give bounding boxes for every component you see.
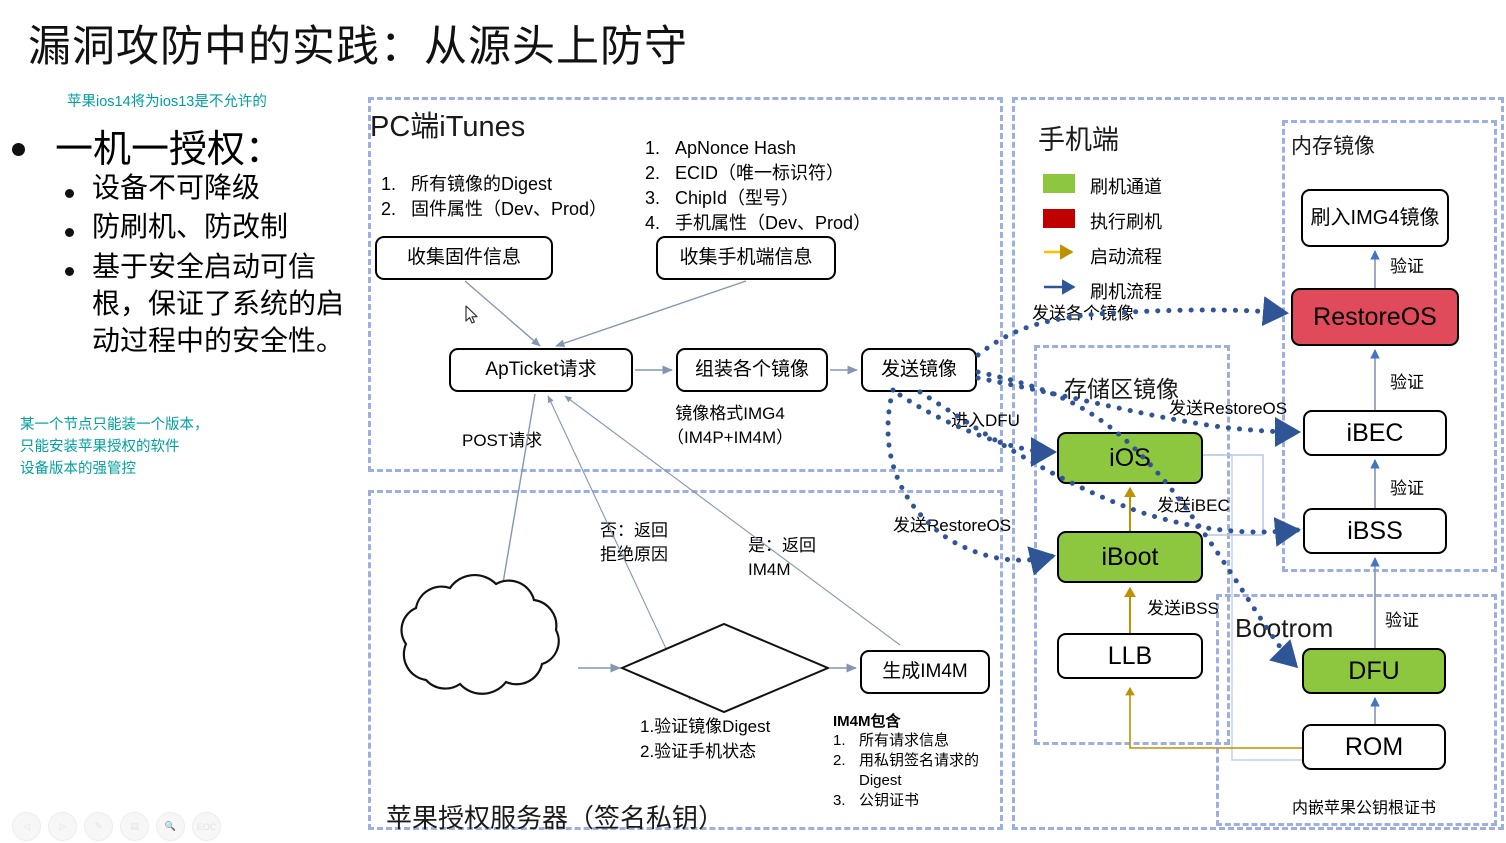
play-icon[interactable]: ▷	[48, 812, 77, 841]
sub-bullet-marker-1	[65, 189, 74, 198]
verify-label-restoreos: 验证	[1390, 372, 1424, 393]
list-item: 2.固件属性（Dev、Prod）	[381, 197, 607, 222]
panel-title-pc: PC端iTunes	[370, 103, 525, 145]
panel-title-storage: 存储区镜像	[1064, 370, 1179, 404]
list-index: 1.	[833, 731, 859, 751]
sub-bullet-marker-2	[65, 228, 74, 237]
legend-label-flash-channel: 刷机通道	[1090, 173, 1162, 199]
list-item: 1.所有请求信息	[833, 731, 981, 751]
list-text: ChipId（型号）	[675, 186, 799, 211]
box-dfu[interactable]: DFU	[1302, 648, 1446, 694]
list-index: 3.	[645, 186, 675, 211]
box-llb[interactable]: LLB	[1057, 633, 1203, 679]
panel-title-bootrom: Bootrom	[1235, 613, 1333, 644]
server-verify-list: 1.验证镜像Digest 2.验证手机状态	[640, 714, 770, 764]
panel-memory	[1282, 120, 1497, 572]
box-iboot[interactable]: iBoot	[1057, 531, 1203, 583]
sub-bullet-2: 防刷机、防改制	[92, 209, 288, 245]
label-branch-no: 否：返回 拒绝原因	[600, 519, 668, 567]
box-flash-img4[interactable]: 刷入IMG4镜像	[1301, 189, 1449, 247]
box-apticket-request[interactable]: ApTicket请求	[449, 348, 633, 392]
box-restoreos[interactable]: RestoreOS	[1291, 288, 1459, 346]
panel-title-memory: 内存镜像	[1291, 130, 1375, 160]
label-send-all-images: 发送各个镜像	[1032, 303, 1134, 324]
box-rom[interactable]: ROM	[1302, 724, 1446, 770]
list-index: 2.	[833, 751, 859, 791]
sub-bullet-3: 基于安全启动可信根，保证了系统的启动过程中的安全性。	[92, 248, 354, 359]
list-item: 4.手机属性（Dev、Prod）	[645, 211, 871, 236]
list-item: 3.ChipId（型号）	[645, 186, 871, 211]
box-collect-firmware[interactable]: 收集固件信息	[375, 236, 553, 280]
pc-list-left: 1.所有镜像的Digest 2.固件属性（Dev、Prod）	[381, 172, 607, 222]
list-index: 2.	[381, 197, 411, 222]
im4m-contains-title: IM4M包含	[833, 711, 901, 732]
list-text: 所有请求信息	[859, 731, 949, 751]
box-generate-im4m[interactable]: 生成IM4M	[860, 650, 990, 694]
box-ibec[interactable]: iBEC	[1303, 410, 1447, 456]
list-item: 3.公钥证书	[833, 791, 981, 811]
list-index: 4.	[645, 211, 675, 236]
box-collect-phone[interactable]: 收集手机端信息	[656, 236, 836, 280]
sub-bullet-1: 设备不可降级	[92, 170, 260, 206]
box-ibss[interactable]: iBSS	[1303, 508, 1447, 554]
page-title: 漏洞攻防中的实践：从源头上防守	[28, 12, 688, 74]
search-icon[interactable]: 🔍	[156, 812, 185, 841]
im4m-list: 1.所有请求信息 2.用私钥签名请求的Digest 3.公钥证书	[833, 731, 981, 811]
main-bullet-marker	[12, 143, 25, 156]
list-item: 2.ECID（唯一标识符）	[645, 161, 871, 186]
list-text: 固件属性（Dev、Prod）	[411, 197, 607, 222]
label-send-restoreos-right: 发送RestoreOS	[1169, 398, 1287, 419]
legend-swatch-flash-channel	[1043, 174, 1075, 193]
label-send-ibec: 发送iBEC	[1157, 495, 1230, 516]
box-assemble-images[interactable]: 组装各个镜像	[676, 348, 828, 392]
main-bullet-text: 一机一授权：	[55, 118, 283, 173]
label-send-ibss: 发送iBSS	[1147, 598, 1219, 619]
list-index: 1.	[645, 136, 675, 161]
bootrom-note: 内嵌苹果公钥根证书	[1292, 798, 1436, 819]
teal-note-bottom: 某一个节点只能装一个版本， 只能安装苹果授权的软件 设备版本的强管控	[20, 414, 209, 480]
box-send-image[interactable]: 发送镜像	[861, 348, 977, 392]
panel-title-phone: 手机端	[1038, 118, 1119, 157]
mouse-cursor	[465, 305, 479, 325]
bottom-toolbar: ◁ ▷ ✎ ▤ 🔍 EOC	[12, 812, 221, 841]
list-index: 3.	[833, 791, 859, 811]
legend-label-execute-flash: 执行刷机	[1090, 208, 1162, 234]
legend-label-flash-flow: 刷机流程	[1090, 278, 1162, 304]
list-index: 2.	[645, 161, 675, 186]
list-item: 1.ApNonce Hash	[645, 136, 871, 161]
sub-bullet-marker-3	[65, 267, 74, 276]
layout-icon[interactable]: ▤	[120, 812, 149, 841]
list-text: 手机属性（Dev、Prod）	[675, 211, 871, 236]
pen-icon[interactable]: ✎	[84, 812, 113, 841]
list-text: 用私钥签名请求的Digest	[859, 751, 981, 791]
legend-swatch-execute-flash	[1043, 209, 1075, 228]
label-send-restoreos-left: 发送RestoreOS	[893, 515, 1011, 536]
list-item: 2.用私钥签名请求的Digest	[833, 751, 981, 791]
verify-label-ibss: 验证	[1385, 610, 1419, 631]
box-ios[interactable]: iOS	[1057, 432, 1203, 484]
list-item: 1.所有镜像的Digest	[381, 172, 607, 197]
diamond-label: 是否授权	[676, 656, 752, 677]
verify-label-ibec: 验证	[1390, 478, 1424, 499]
label-img4-format: 镜像格式IMG4 （IM4P+IM4M）	[667, 402, 793, 450]
list-text: ApNonce Hash	[675, 136, 796, 161]
list-text: 公钥证书	[859, 791, 919, 811]
eoc-icon[interactable]: EOC	[192, 812, 221, 841]
list-text: 所有镜像的Digest	[411, 172, 552, 197]
prev-icon[interactable]: ◁	[12, 812, 41, 841]
legend-label-boot-flow: 启动流程	[1090, 243, 1162, 269]
teal-note-top: 苹果ios14将为ios13是不允许的	[67, 90, 267, 111]
list-text: ECID（唯一标识符）	[675, 161, 844, 186]
label-enter-dfu: 进入DFU	[951, 410, 1020, 431]
panel-title-server: 苹果授权服务器（签名私钥）	[386, 798, 724, 835]
label-branch-yes: 是：返回 IM4M	[748, 534, 816, 582]
cloud-label: HTTPS	[450, 652, 525, 673]
label-post-request: POST请求	[462, 430, 542, 451]
verify-label-img4: 验证	[1390, 256, 1424, 277]
list-index: 1.	[381, 172, 411, 197]
pc-list-right: 1.ApNonce Hash 2.ECID（唯一标识符） 3.ChipId（型号…	[645, 136, 871, 236]
